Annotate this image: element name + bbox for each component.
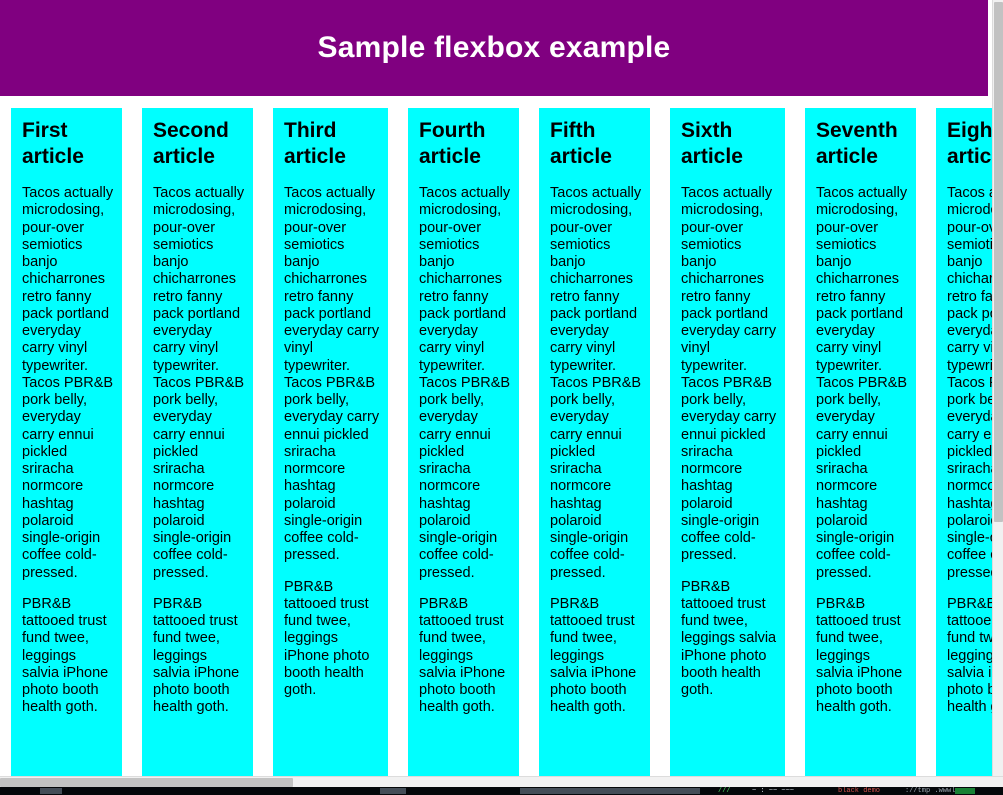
article-third: Third article Tacos actually microdosing… — [273, 108, 388, 779]
article-paragraph-2: PBR&B tattooed trust fund twee, leggings… — [284, 579, 380, 700]
page-title: Sample flexbox example — [318, 31, 671, 65]
article-first: First article Tacos actually microdosing… — [11, 108, 122, 779]
article-sixth: Sixth article Tacos actually microdosing… — [670, 108, 785, 779]
article-paragraph-2: PBR&B tattooed trust fund twee, leggings… — [550, 596, 642, 717]
article-paragraph-2: PBR&B tattooed trust fund twee, leggings… — [947, 596, 992, 717]
os-strip-segment — [380, 788, 406, 794]
article-paragraph-2: PBR&B tattooed trust fund twee, leggings… — [681, 579, 777, 700]
article-paragraph-1: Tacos actually microdosing, pour-over se… — [284, 185, 380, 565]
article-paragraph-1: Tacos actually microdosing, pour-over se… — [681, 185, 777, 565]
os-strip-text: black demo — [838, 787, 880, 795]
os-bottom-strip: /// ~ : ~~ ~~~ black demo ://tmp .wwwl — [0, 787, 1003, 795]
article-flex-container: First article Tacos actually microdosing… — [0, 96, 992, 779]
article-paragraph-2: PBR&B tattooed trust fund twee, leggings… — [419, 596, 511, 717]
vertical-scrollbar[interactable] — [992, 0, 1003, 779]
article-fourth: Fourth article Tacos actually microdosin… — [408, 108, 519, 779]
article-eighth: Eighth article Tacos actually microdosin… — [936, 108, 992, 779]
article-paragraph-2: PBR&B tattooed trust fund twee, leggings… — [153, 596, 245, 717]
article-second: Second article Tacos actually microdosin… — [142, 108, 253, 779]
article-paragraph-2: PBR&B tattooed trust fund twee, leggings… — [816, 596, 908, 717]
article-heading: Sixth article — [681, 118, 777, 169]
article-heading: Fourth article — [419, 118, 511, 169]
article-seventh: Seventh article Tacos actually microdosi… — [805, 108, 916, 779]
article-heading: Eighth article — [947, 118, 992, 169]
os-strip-text: ~ : ~~ ~~~ — [752, 787, 794, 795]
screen-root: Sample flexbox example First article Tac… — [0, 0, 1003, 795]
article-fifth: Fifth article Tacos actually microdosing… — [539, 108, 650, 779]
article-paragraph-1: Tacos actually microdosing, pour-over se… — [22, 185, 114, 582]
article-heading: Third article — [284, 118, 380, 169]
vertical-scrollbar-thumb[interactable] — [994, 2, 1003, 522]
article-heading: Seventh article — [816, 118, 908, 169]
article-paragraph-1: Tacos actually microdosing, pour-over se… — [947, 185, 992, 582]
os-strip-segment — [40, 788, 62, 794]
article-paragraph-1: Tacos actually microdosing, pour-over se… — [550, 185, 642, 582]
os-strip-segment — [955, 788, 975, 794]
article-heading: Second article — [153, 118, 245, 169]
horizontal-scrollbar[interactable] — [0, 776, 1003, 787]
page-header: Sample flexbox example — [0, 0, 988, 96]
os-strip-text: /// — [718, 787, 731, 795]
article-paragraph-1: Tacos actually microdosing, pour-over se… — [816, 185, 908, 582]
os-strip-text: ://tmp .wwwl — [905, 787, 955, 795]
browser-viewport: Sample flexbox example First article Tac… — [0, 0, 992, 779]
article-paragraph-1: Tacos actually microdosing, pour-over se… — [153, 185, 245, 582]
article-paragraph-2: PBR&B tattooed trust fund twee, leggings… — [22, 596, 114, 717]
horizontal-scrollbar-thumb[interactable] — [0, 778, 293, 787]
os-strip-segment — [520, 788, 700, 794]
article-paragraph-1: Tacos actually microdosing, pour-over se… — [419, 185, 511, 582]
article-heading: First article — [22, 118, 114, 169]
article-heading: Fifth article — [550, 118, 642, 169]
